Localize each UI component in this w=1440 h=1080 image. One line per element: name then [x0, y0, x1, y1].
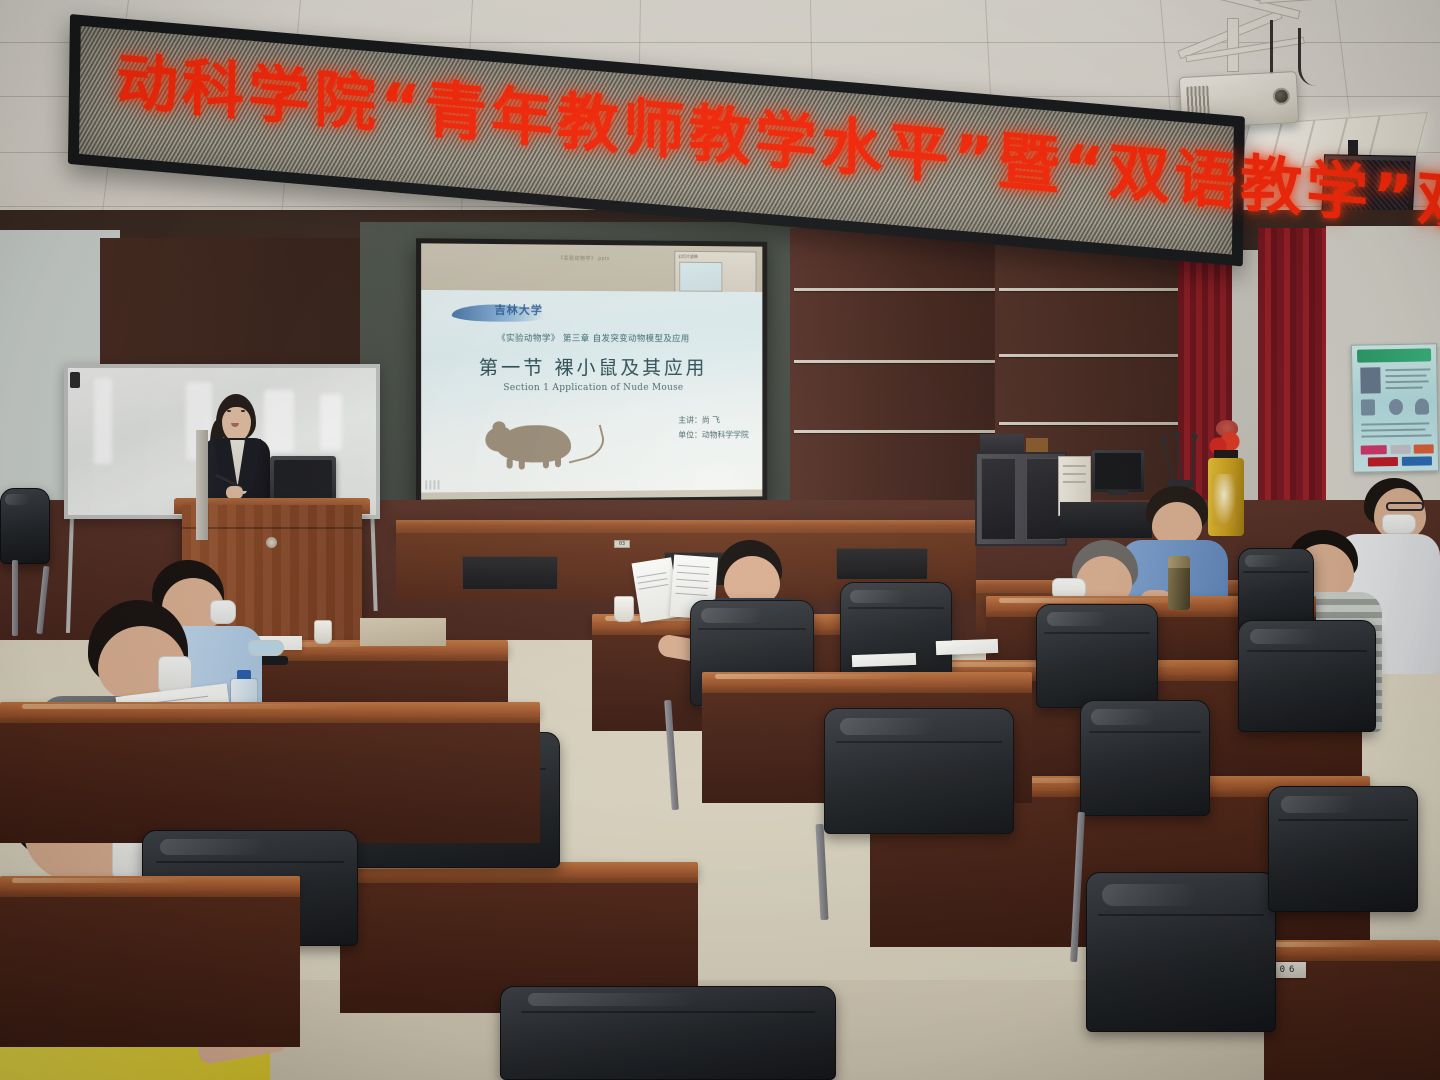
thumbnail-preview	[679, 262, 722, 292]
eyeglasses	[1386, 502, 1424, 511]
chair-leg-fl	[12, 560, 18, 636]
led-banner: 动科学院“青年教师教学水平”暨“双语教学”观摩会	[70, 14, 1260, 244]
lectern-lock	[266, 537, 277, 548]
slide-title: 第一节 裸小鼠及其应用	[421, 353, 762, 380]
wall-post-left	[196, 430, 208, 540]
bench-panel-3	[836, 548, 928, 580]
chair-c3[interactable]	[824, 708, 1014, 834]
av-equipment-rack	[975, 452, 1067, 546]
chair-r4[interactable]	[1080, 700, 1210, 816]
front-bench-top	[396, 520, 976, 534]
slide-presenter-name: 主讲：尚 飞	[678, 413, 748, 428]
bench-number-plate: 03	[614, 540, 630, 548]
wall-panel-right	[790, 228, 1000, 528]
thermos-flask	[1168, 556, 1190, 610]
university-logo-text: 吉林大学	[494, 301, 542, 317]
desk-left-mid	[0, 702, 540, 822]
cardboard-box	[360, 618, 446, 646]
chair-r5[interactable]	[1086, 872, 1276, 1032]
nude-mouse-illustration	[484, 411, 590, 470]
desk-papers-center	[852, 653, 916, 667]
rack-top-box	[980, 434, 1024, 454]
led-banner-panel: 动科学院“青年教师教学水平”暨“双语教学”观摩会	[68, 14, 1245, 267]
spare-mask	[248, 640, 284, 656]
slide-subtitle: Section 1 Application of Nude Mouse	[421, 383, 762, 393]
lecture-hall-photo: 动科学院“青年教师教学水平”暨“双语教学”观摩会 《实验动物学》.pptx 幻灯…	[0, 0, 1440, 1080]
projection-screen: 《实验动物学》.pptx 幻灯片放映 第 1 张,共 34 张 吉林大学 《实验…	[416, 238, 767, 505]
slide-presenter-block: 主讲：尚 飞 单位：动物科学学院	[678, 413, 748, 443]
paper-cup-left	[314, 620, 332, 644]
powerpoint-file-tab: 《实验动物学》.pptx	[558, 255, 610, 262]
projector-cable-2	[1298, 28, 1328, 86]
chair-r6[interactable]	[1268, 786, 1418, 912]
desk-papers-center-2	[936, 639, 998, 655]
projected-image: 《实验动物学》.pptx 幻灯片放映 第 1 张,共 34 张 吉林大学 《实验…	[421, 243, 762, 499]
slide-affiliation: 单位：动物科学学院	[678, 428, 748, 443]
desk-number-plate-06: 06	[1272, 962, 1306, 978]
chair-c5-foreground[interactable]	[500, 986, 836, 1080]
paper-cup	[614, 596, 634, 622]
led-banner-text: 动科学院“青年教师教学水平”暨“双语教学”观摩会	[116, 49, 1227, 213]
chair-r2[interactable]	[1036, 604, 1158, 708]
chair-r3[interactable]	[1238, 620, 1376, 732]
desk-right-corner	[1264, 940, 1440, 1080]
lectern-monitor	[270, 456, 336, 504]
thumbnail-title: 幻灯片放映	[678, 254, 698, 260]
slide-canvas: 吉林大学 《实验动物学》 第三章 自发突变动物模型及应用 第一节 裸小鼠及其应用…	[421, 290, 762, 493]
chair-far-left-1[interactable]	[0, 488, 50, 564]
slide-chapter-header: 《实验动物学》 第三章 自发突变动物模型及应用	[421, 331, 762, 344]
red-curtain	[1258, 228, 1330, 528]
bench-panel-1	[462, 556, 558, 590]
female-presenter	[196, 394, 280, 510]
slide-corner-mark	[425, 480, 441, 489]
university-logo: 吉林大学	[452, 296, 559, 325]
whiteboard-marker[interactable]	[70, 372, 80, 388]
wall-information-poster	[1351, 343, 1439, 472]
desk-left-front	[0, 876, 300, 1026]
powerpoint-window-chrome: 《实验动物学》.pptx 幻灯片放映 第 1 张,共 34 张	[421, 243, 762, 292]
desk-center-front	[340, 862, 698, 992]
